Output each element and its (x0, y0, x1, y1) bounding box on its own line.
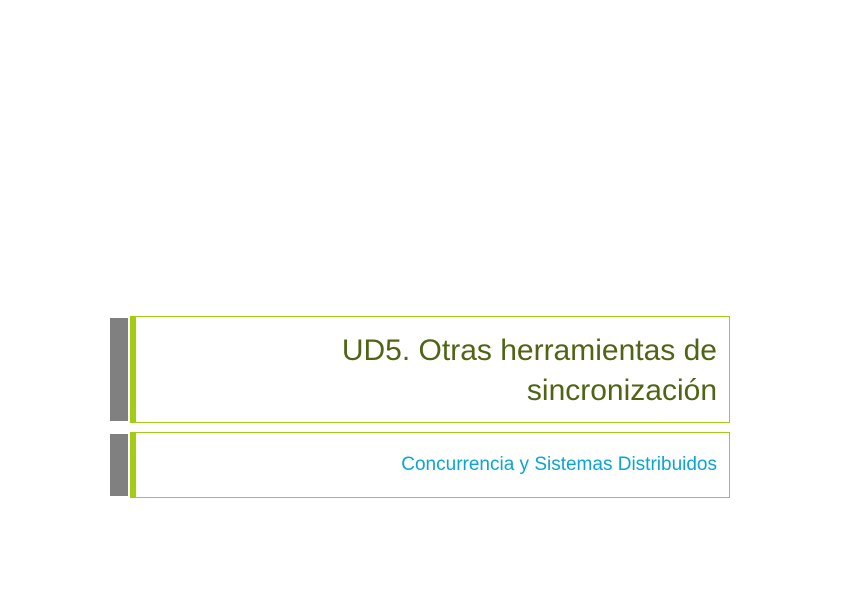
page-title: UD5. Otras herramientas de sincronizació… (342, 331, 717, 410)
page-subtitle: Concurrencia y Sistemas Distribuidos (401, 453, 717, 478)
title-block: UD5. Otras herramientas de sincronizació… (110, 316, 730, 423)
subtitle-gray-accent-bar (110, 434, 128, 496)
title-panel: UD5. Otras herramientas de sincronizació… (136, 316, 730, 423)
subtitle-panel: Concurrencia y Sistemas Distribuidos (136, 432, 730, 498)
title-gray-accent-bar (110, 318, 128, 421)
subtitle-block: Concurrencia y Sistemas Distribuidos (110, 432, 730, 498)
slide-canvas: UD5. Otras herramientas de sincronizació… (0, 0, 848, 599)
